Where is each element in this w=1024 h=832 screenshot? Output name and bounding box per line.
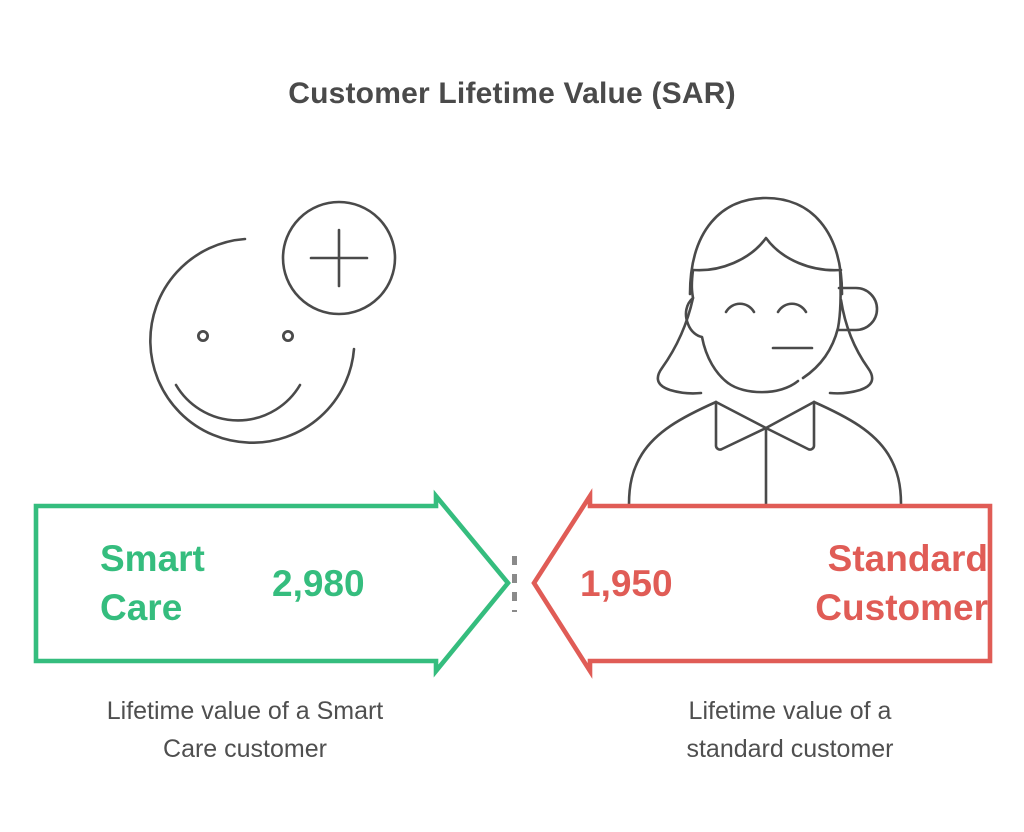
standard-customer-arrow-text: 1,950 Standard Customer	[580, 488, 988, 680]
page-title: Customer Lifetime Value (SAR)	[0, 74, 1024, 114]
smart-care-value: 2,980	[272, 560, 365, 609]
woman-customer-icon	[598, 182, 934, 508]
smart-care-arrow: Smart Care 2,980	[22, 488, 518, 680]
standard-customer-label: Standard Customer	[728, 535, 988, 633]
smart-care-arrow-text: Smart Care 2,980	[100, 488, 440, 680]
standard-customer-arrow: 1,950 Standard Customer	[520, 488, 1004, 680]
smiley-plus-icon	[110, 186, 420, 496]
smart-care-caption: Lifetime value of a Smart Care customer	[30, 692, 460, 768]
dashed-divider	[512, 556, 517, 612]
standard-customer-value: 1,950	[580, 560, 728, 609]
smart-care-label: Smart Care	[100, 535, 250, 633]
standard-customer-caption: Lifetime value of a standard customer	[570, 692, 1010, 768]
infographic-canvas: Customer Lifetime Value (SAR)	[0, 0, 1024, 832]
